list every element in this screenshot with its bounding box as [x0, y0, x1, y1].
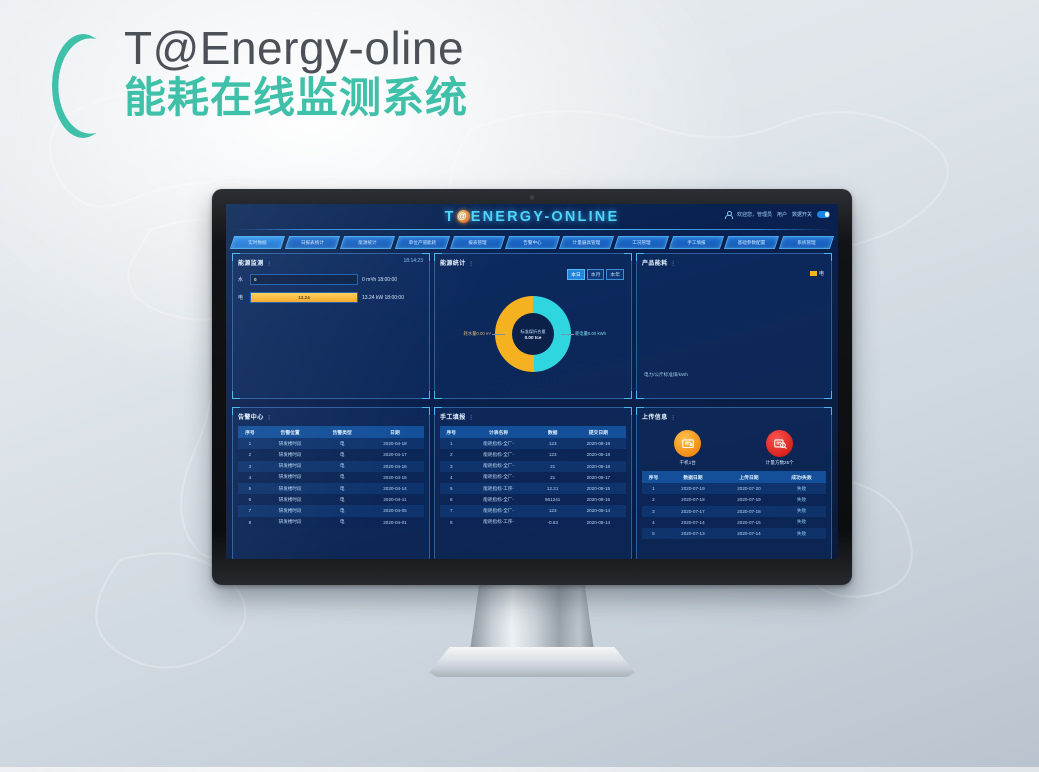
cell: 123	[535, 505, 571, 516]
table-row[interactable]: 22020-07-182020-07-19失败	[642, 494, 826, 505]
table-row[interactable]: 8能耗指标-工序--0.532020-08-14	[440, 517, 626, 528]
cell: -0.53	[535, 517, 571, 528]
user-name[interactable]: 欢迎您，管理员	[737, 211, 772, 218]
nav-label-0: 实时数据	[233, 237, 282, 248]
table-row[interactable]: 12020-07-192020-07-20失败	[642, 483, 826, 494]
panel-menu-icon-manual[interactable]: ⋮	[469, 415, 474, 421]
nav-item-5[interactable]: 告警中心	[504, 236, 559, 249]
cell: 2020-04-14	[366, 483, 424, 494]
gauge-water: 水 0 0 m³/h 18:00:00	[238, 274, 424, 285]
main-nav: 实时数据 日报表统计 能源统计 单位产值能耗 报表管理 告警中心 计量器具管理 …	[226, 236, 838, 249]
monitor-base	[429, 647, 635, 677]
cell: 2020-08-14	[571, 517, 626, 528]
panel-menu-icon-product[interactable]: ⋮	[671, 261, 676, 267]
cell: 2020-07-14	[665, 517, 721, 528]
cell: 6	[440, 494, 463, 505]
cell: 2020-08-18	[571, 461, 626, 472]
manual-title-text: 手工填报	[440, 415, 466, 421]
product-title-text: 产品能耗	[642, 261, 668, 267]
alarm-col-0: 序号	[238, 426, 262, 438]
gauge-water-label: 水	[238, 276, 246, 283]
cell: 电	[319, 472, 366, 483]
cell: 8	[440, 517, 463, 528]
nav-label-4: 报表管理	[453, 237, 502, 248]
manual-col-2: 数据	[535, 426, 571, 438]
user-icon	[725, 211, 732, 218]
alarm-header-row: 序号 告警位置 告警类型 日期	[238, 426, 424, 438]
nav-item-4[interactable]: 报表管理	[450, 236, 505, 249]
nav-item-10[interactable]: 系统管理	[779, 236, 834, 249]
cell: 3	[440, 461, 463, 472]
cell: 2020-07-20	[721, 483, 777, 494]
dashboard-grid: 能源监测⋮ 18:14:23 水 0 0 m³/h 18:00:00 电	[226, 249, 838, 559]
cell: 研发楼时段	[262, 483, 319, 494]
manual-col-1: 计表名称	[463, 426, 535, 438]
dashboard-row-top: 能源监测⋮ 18:14:23 水 0 0 m³/h 18:00:00 电	[232, 253, 832, 399]
status-badge: 失败	[777, 528, 826, 539]
energy-donut-chart: 标准煤折合量 0.00 tce 耗水量0.00 m³ 耗电量0.00 kWh	[435, 296, 631, 372]
gauge-water-track: 0	[250, 274, 358, 285]
nav-item-0[interactable]: 实时数据	[230, 236, 285, 249]
cell: 研发楼时段	[262, 449, 319, 460]
report-search-icon	[766, 430, 793, 457]
gauge-electric-value: 13.24	[251, 293, 357, 302]
toggle-label: 数据开关	[792, 211, 812, 218]
brand-prefix: T	[445, 209, 456, 225]
cell: 2020-07-18	[721, 506, 777, 517]
cell: 7	[238, 505, 262, 516]
cell: 2020-04-18	[366, 438, 424, 449]
cell: 电	[319, 517, 366, 528]
panel-menu-icon[interactable]: ⋮	[267, 261, 272, 267]
cell: 2	[238, 449, 262, 460]
cell: 2020-08-17	[571, 472, 626, 483]
legend-swatch-electric	[810, 271, 817, 276]
table-row[interactable]: 52020-07-132020-07-14失败	[642, 528, 826, 539]
cell: 5	[238, 483, 262, 494]
user-area[interactable]: 欢迎您，管理员 用户 数据开关	[725, 211, 830, 218]
nav-label-2: 能源统计	[343, 237, 392, 248]
gauge-electric-track: 13.24	[250, 292, 358, 303]
cell: 1	[238, 438, 262, 449]
nav-label-9: 基础参数配置	[727, 237, 776, 248]
manual-col-0: 序号	[440, 426, 463, 438]
realtime-clock: 18:14:23	[404, 258, 423, 264]
status-badge: 失败	[777, 494, 826, 505]
nav-item-2[interactable]: 能源统计	[340, 236, 395, 249]
cell: 2	[440, 449, 463, 460]
nav-item-7[interactable]: 工况管理	[614, 236, 669, 249]
cell: 电	[319, 438, 366, 449]
nav-item-1[interactable]: 日报表统计	[285, 236, 340, 249]
table-row[interactable]: 5研发楼时段电2020-04-14	[238, 483, 424, 494]
cell: 电	[319, 505, 366, 516]
cell: 12.21	[535, 483, 571, 494]
table-row[interactable]: 7能耗指标-全厂-1232020-08-14	[440, 505, 626, 516]
table-row[interactable]: 3能耗指标-全厂-212020-08-18	[440, 461, 626, 472]
donut-center-label: 标准煤折合量 0.00 tce	[495, 296, 571, 372]
table-row[interactable]: 6能耗指标-全厂-5612412020-08-15	[440, 494, 626, 505]
cell: 研发楼时段	[262, 517, 319, 528]
poster-header: T@Energy-oline 能耗在线监测系统	[52, 24, 468, 138]
manual-header-row: 序号 计表名称 数据 提交日期	[440, 426, 626, 438]
cell: 6	[238, 494, 262, 505]
cell: 2020-04-01	[366, 517, 424, 528]
cell: 2020-08-19	[571, 438, 626, 449]
cell: 能耗指标-全厂-	[463, 472, 535, 483]
cell: 研发楼时段	[262, 505, 319, 516]
dashboard: T@ENERGY-ONLINE 欢迎您，管理员 用户 数据开关 实时数据 日报表…	[226, 204, 838, 559]
upload-col-3: 成功/失败	[777, 471, 826, 483]
nav-label-3: 单位产值能耗	[398, 237, 447, 248]
cell: 561241	[535, 494, 571, 505]
manual-col-3: 提交日期	[571, 426, 626, 438]
product-legend: 电	[810, 270, 824, 277]
cell: 2020-04-05	[366, 505, 424, 516]
tab-period-year[interactable]: 本年	[606, 269, 624, 280]
cell: 2020-08-15	[571, 494, 626, 505]
cell: 2020-07-19	[665, 483, 721, 494]
donut-label-electric: 耗电量0.00 kWh	[575, 331, 606, 337]
gauge-water-reading-text: 0 m³/h	[362, 277, 376, 283]
nav-label-6: 计量器具管理	[562, 237, 611, 248]
panel-menu-icon-stats[interactable]: ⋮	[469, 261, 474, 267]
upload-table: 序号 数据日期 上传日期 成功/失败 12020-07-192020-07-20…	[642, 471, 826, 539]
panel-realtime-monitoring: 能源监测⋮ 18:14:23 水 0 0 m³/h 18:00:00 电	[232, 253, 430, 399]
gauge-water-value: 0	[251, 275, 357, 284]
table-row[interactable]: 4研发楼时段电2020-04-15	[238, 472, 424, 483]
panel-title-alarm: 告警中心⋮	[238, 412, 424, 421]
cell: 电	[319, 494, 366, 505]
alarm-col-3: 日期	[366, 426, 424, 438]
cell: 2	[642, 494, 665, 505]
table-row[interactable]: 2能耗指标-全厂-1232020-08-18	[440, 449, 626, 460]
upload-header-row: 序号 数据日期 上传日期 成功/失败	[642, 471, 826, 483]
cell: 4	[440, 472, 463, 483]
monitor-neck	[470, 579, 594, 651]
cell: 123	[535, 449, 571, 460]
cell: 能耗指标-全厂-	[463, 505, 535, 516]
nav-label-10: 系统管理	[782, 237, 831, 248]
upload-col-0: 序号	[642, 471, 665, 483]
cell: 2020-08-14	[571, 505, 626, 516]
donut-center-line2: 0.00 tce	[525, 335, 542, 340]
table-row[interactable]: 32020-07-172020-07-18失败	[642, 506, 826, 517]
table-row[interactable]: 3研发楼时段电2020-04-16	[238, 461, 424, 472]
cell: 研发楼时段	[262, 461, 319, 472]
panel-title-realtime: 能源监测⋮	[238, 258, 424, 267]
alarm-col-2: 告警类型	[319, 426, 366, 438]
cell: 5	[440, 483, 463, 494]
panel-title-upload: 上传信息⋮	[642, 412, 826, 421]
cell: 2020-08-18	[571, 449, 626, 460]
gauge-electric-label: 电	[238, 294, 246, 301]
nav-item-9[interactable]: 基础参数配置	[724, 236, 779, 249]
table-row[interactable]: 8研发楼时段电2020-04-01	[238, 517, 424, 528]
brand-title-en: T@Energy-oline	[124, 24, 468, 72]
cell: 5	[642, 528, 665, 539]
nav-label-8: 手工填报	[672, 237, 721, 248]
cell: 2020-04-15	[366, 472, 424, 483]
cell: 研发楼时段	[262, 472, 319, 483]
badge-report[interactable]: 计量方数25个	[766, 430, 794, 466]
panel-energy-statistics: 能源统计⋮ 本日 本月 本年 标准煤折合量 0.00 tce	[434, 253, 632, 399]
nav-item-6[interactable]: 计量器具管理	[559, 236, 614, 249]
legend-label-electric: 电	[819, 270, 824, 277]
cell: 电	[319, 483, 366, 494]
cell: 2020-07-19	[721, 494, 777, 505]
c-ring-logo	[52, 34, 114, 138]
badge-meter-label: 干机1台	[680, 460, 696, 466]
panel-product-energy: 产品能耗⋮ 电 电力/公斤标准煤/kWh	[636, 253, 832, 399]
meter-icon	[674, 430, 701, 457]
alarm-title-text: 告警中心	[238, 415, 264, 421]
cell: 21	[535, 472, 571, 483]
cell: 能耗指标-全厂-	[463, 461, 535, 472]
upload-col-2: 上传日期	[721, 471, 777, 483]
badge-report-label: 计量方数25个	[766, 460, 794, 466]
panel-menu-icon-upload[interactable]: ⋮	[671, 415, 676, 421]
donut-label-water: 耗水量0.00 m³	[464, 331, 491, 337]
gauge-electric: 电 13.24 13.24 kW 18:00:00	[238, 292, 424, 303]
realtime-title-text: 能源监测	[238, 261, 264, 267]
table-row[interactable]: 6研发楼时段电2020-04-11	[238, 494, 424, 505]
at-icon: @	[457, 210, 470, 223]
cell: 2020-07-14	[721, 528, 777, 539]
cell: 2020-07-15	[721, 517, 777, 528]
badge-meter[interactable]: 干机1台	[674, 430, 701, 466]
nav-item-3[interactable]: 单位产值能耗	[395, 236, 450, 249]
cell: 2020-04-11	[366, 494, 424, 505]
dashboard-header: T@ENERGY-ONLINE 欢迎您，管理员 用户 数据开关	[226, 204, 838, 235]
cell: 电	[319, 449, 366, 460]
cell: 123	[535, 438, 571, 449]
cell: 2020-07-13	[665, 528, 721, 539]
table-row[interactable]: 7研发楼时段电2020-04-05	[238, 505, 424, 516]
cell: 能耗指标-全厂-	[463, 449, 535, 460]
nav-label-1: 日报表统计	[288, 237, 337, 248]
table-row[interactable]: 4能耗指标-全厂-212020-08-17	[440, 472, 626, 483]
panel-title-manual: 手工填报⋮	[440, 412, 626, 421]
manual-body: 1能耗指标-全厂-1232020-08-19 2能耗指标-全厂-1232020-…	[440, 438, 626, 528]
cell: 研发楼时段	[262, 494, 319, 505]
cell: 2020-08-15	[571, 483, 626, 494]
gauge-water-reading: 0 m³/h 18:00:00	[362, 277, 424, 283]
monitor-screen: T@ENERGY-ONLINE 欢迎您，管理员 用户 数据开关 实时数据 日报表…	[226, 204, 838, 559]
tab-period-month[interactable]: 本月	[587, 269, 605, 280]
cell: 8	[238, 517, 262, 528]
alarm-col-1: 告警位置	[262, 426, 319, 438]
nav-label-5: 告警中心	[508, 237, 557, 248]
panel-title-stats: 能源统计⋮	[440, 258, 626, 267]
brand-suffix: ENERGY-ONLINE	[471, 209, 620, 225]
nav-item-8[interactable]: 手工填报	[669, 236, 724, 249]
status-badge: 失败	[777, 506, 826, 517]
status-badge: 失败	[777, 517, 826, 528]
alarm-table: 序号 告警位置 告警类型 日期 1研发楼时段电2020-04-18 2研发楼时段…	[238, 426, 424, 528]
cell: 2020-04-16	[366, 461, 424, 472]
gauge-electric-reading-text: 13.24 kW	[362, 295, 383, 301]
gauge-electric-time: 18:00:00	[385, 295, 404, 301]
upload-col-1: 数据日期	[665, 471, 721, 483]
monitor: T@ENERGY-ONLINE 欢迎您，管理员 用户 数据开关 实时数据 日报表…	[212, 189, 852, 585]
gauge-water-time: 18:00:00	[378, 277, 397, 283]
cell: 21	[535, 461, 571, 472]
stats-title-text: 能源统计	[440, 261, 466, 267]
table-row[interactable]: 1研发楼时段电2020-04-18	[238, 438, 424, 449]
gauge-electric-reading: 13.24 kW 18:00:00	[362, 295, 424, 301]
cell: 4	[642, 517, 665, 528]
table-row[interactable]: 1能耗指标-全厂-1232020-08-19	[440, 438, 626, 449]
tab-period-day[interactable]: 本日	[567, 269, 585, 280]
cell: 能耗指标-全厂-	[463, 494, 535, 505]
alarm-body: 1研发楼时段电2020-04-18 2研发楼时段电2020-04-17 3研发楼…	[238, 438, 424, 528]
cell: 2020-04-17	[366, 449, 424, 460]
upload-body: 12020-07-192020-07-20失败 22020-07-182020-…	[642, 483, 826, 539]
panel-alarm-center: 告警中心⋮ 序号 告警位置 告警类型 日期 1研发楼时段电2020-04-18 …	[232, 407, 430, 559]
table-row[interactable]: 42020-07-142020-07-15失败	[642, 517, 826, 528]
cell: 能耗指标-工序-	[463, 517, 535, 528]
nav-label-7: 工况管理	[617, 237, 666, 248]
cell: 2020-07-17	[665, 506, 721, 517]
header-divider	[233, 229, 831, 230]
table-row[interactable]: 2研发楼时段电2020-04-17	[238, 449, 424, 460]
cell: 3	[642, 506, 665, 517]
status-badge: 失败	[777, 483, 826, 494]
cell: 研发楼时段	[262, 438, 319, 449]
cell: 1	[642, 483, 665, 494]
cell: 4	[238, 472, 262, 483]
cell: 能耗指标-工序-	[463, 483, 535, 494]
panel-menu-icon-alarm[interactable]: ⋮	[267, 415, 272, 421]
manual-table: 序号 计表名称 数据 提交日期 1能耗指标-全厂-1232020-08-19 2…	[440, 426, 626, 528]
brand-title-cn: 能耗在线监测系统	[124, 74, 468, 122]
data-toggle-switch[interactable]	[817, 211, 830, 218]
cell: 能耗指标-全厂-	[463, 438, 535, 449]
upload-title-text: 上传信息	[642, 415, 668, 421]
panel-upload-info: 上传信息⋮ 干机1台	[636, 407, 832, 559]
cell: 电	[319, 461, 366, 472]
user-role[interactable]: 用户	[777, 211, 787, 218]
product-axis-label: 电力/公斤标准煤/kWh	[644, 372, 688, 378]
dashboard-row-bottom: 告警中心⋮ 序号 告警位置 告警类型 日期 1研发楼时段电2020-04-18 …	[232, 407, 832, 559]
cell: 3	[238, 461, 262, 472]
panel-title-product: 产品能耗⋮	[642, 258, 826, 267]
cell: 7	[440, 505, 463, 516]
panel-manual-entry: 手工填报⋮ 序号 计表名称 数据 提交日期 1能耗指标-全厂-1232020-0…	[434, 407, 632, 559]
table-row[interactable]: 5能耗指标-工序-12.212020-08-15	[440, 483, 626, 494]
cell: 1	[440, 438, 463, 449]
upload-badges: 干机1台 计量方数25个	[642, 430, 826, 466]
stats-period-tabs: 本日 本月 本年	[567, 269, 624, 280]
cell: 2020-07-18	[665, 494, 721, 505]
